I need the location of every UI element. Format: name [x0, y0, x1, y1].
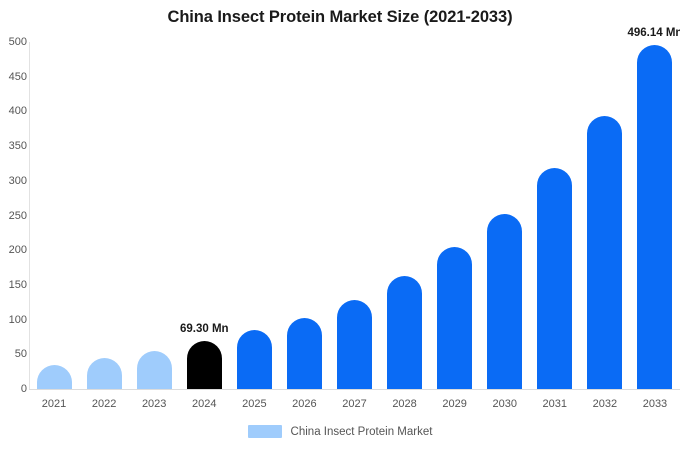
x-axis-tick-2024: 2024	[181, 398, 227, 410]
y-axis-tick-300: 300	[3, 175, 27, 187]
x-axis-tick-2028: 2028	[382, 398, 428, 410]
x-axis-tick-2023: 2023	[131, 398, 177, 410]
x-axis-line	[29, 389, 680, 390]
bar-2021[interactable]	[37, 365, 72, 389]
x-axis-tick-2025: 2025	[231, 398, 277, 410]
y-axis-tick-150: 150	[3, 279, 27, 291]
x-axis-tick-2032: 2032	[582, 398, 628, 410]
bar-slot-2030	[487, 42, 522, 389]
bar-2030[interactable]	[487, 214, 522, 389]
bar-2029[interactable]	[437, 247, 472, 389]
x-axis-tick-2026: 2026	[281, 398, 327, 410]
y-axis-tick-labels: 050100150200250300350400450500	[0, 0, 27, 450]
bar-slot-2024: 69.30 Mn	[187, 42, 222, 389]
y-axis-tick-350: 350	[3, 140, 27, 152]
chart-title: China Insect Protein Market Size (2021-2…	[0, 8, 680, 27]
bar-value-label-2024: 69.30 Mn	[180, 323, 229, 335]
y-axis-tick-100: 100	[3, 314, 27, 326]
bar-value-label-2033: 496.14 Mn	[627, 27, 680, 39]
bar-slot-2033: 496.14 Mn	[637, 42, 672, 389]
chart-legend: China Insect Protein Market	[0, 425, 680, 438]
x-axis-tick-2030: 2030	[482, 398, 528, 410]
bar-2025[interactable]	[237, 330, 272, 389]
x-axis-tick-labels: 2021202220232024202520262027202820292030…	[29, 398, 680, 418]
bar-2023[interactable]	[137, 351, 172, 389]
bar-slot-2021	[37, 42, 72, 389]
bar-2022[interactable]	[87, 358, 122, 389]
y-axis-tick-450: 450	[3, 71, 27, 83]
y-axis-tick-50: 50	[3, 348, 27, 360]
bar-2032[interactable]	[587, 116, 622, 389]
x-axis-tick-2027: 2027	[332, 398, 378, 410]
legend-swatch-china-insect-protein-market	[248, 425, 282, 438]
x-axis-tick-2021: 2021	[31, 398, 77, 410]
legend-label-china-insect-protein-market: China Insect Protein Market	[291, 426, 433, 438]
bar-2031[interactable]	[537, 168, 572, 389]
x-axis-tick-2029: 2029	[432, 398, 478, 410]
bar-2024[interactable]: 69.30 Mn	[187, 341, 222, 389]
bar-slot-2027	[337, 42, 372, 389]
bar-slot-2031	[537, 42, 572, 389]
bar-slot-2028	[387, 42, 422, 389]
x-axis-tick-2033: 2033	[632, 398, 678, 410]
x-axis-tick-2022: 2022	[81, 398, 127, 410]
bar-slot-2023	[137, 42, 172, 389]
bar-slot-2032	[587, 42, 622, 389]
bar-slot-2022	[87, 42, 122, 389]
x-axis-tick-2031: 2031	[532, 398, 578, 410]
bar-slot-2025	[237, 42, 272, 389]
bar-2026[interactable]	[287, 318, 322, 389]
y-axis-tick-200: 200	[3, 244, 27, 256]
bar-2027[interactable]	[337, 300, 372, 389]
bar-slot-2026	[287, 42, 322, 389]
y-axis-tick-400: 400	[3, 105, 27, 117]
chart-container: China Insect Protein Market Size (2021-2…	[0, 0, 680, 450]
bar-2033[interactable]: 496.14 Mn	[637, 45, 672, 389]
bar-slot-2029	[437, 42, 472, 389]
y-axis-tick-0: 0	[3, 383, 27, 395]
y-axis-tick-250: 250	[3, 210, 27, 222]
plot-area: 69.30 Mn496.14 Mn	[29, 42, 680, 389]
bar-2028[interactable]	[387, 276, 422, 389]
y-axis-tick-500: 500	[3, 36, 27, 48]
